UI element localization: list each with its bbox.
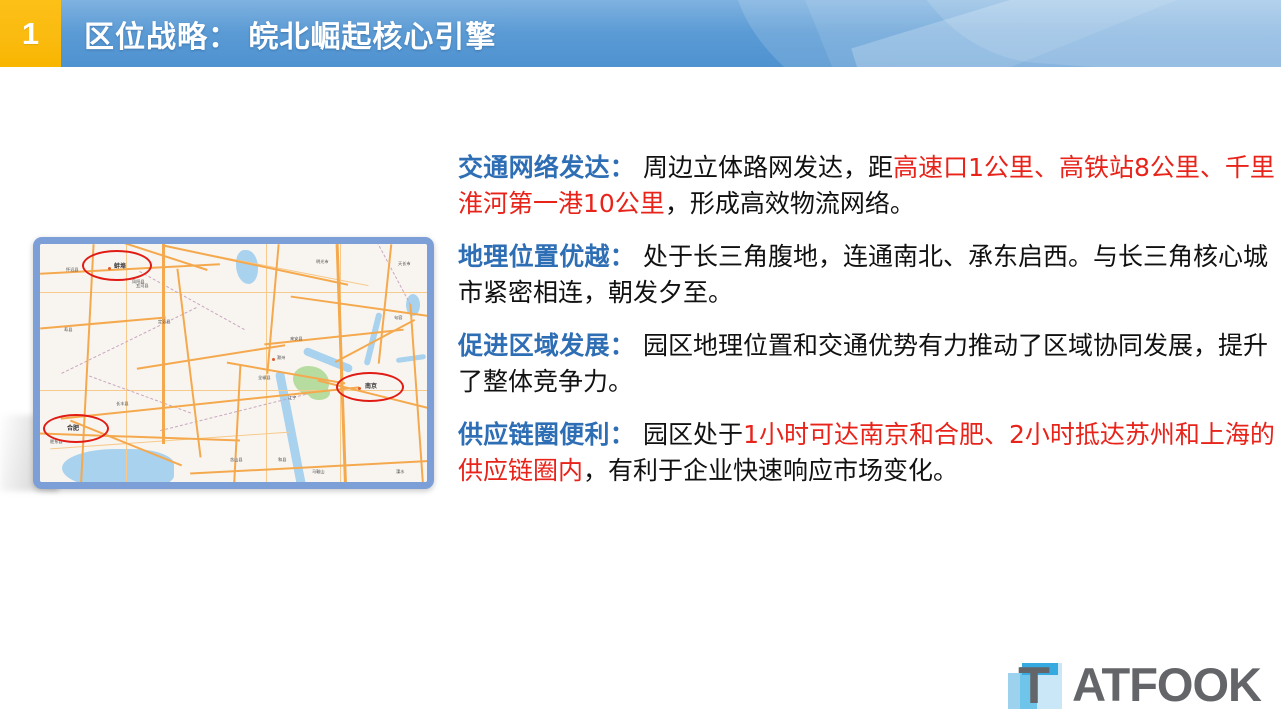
map-town-label: 句容 (394, 316, 402, 320)
slide-header: 1 区位战略： 皖北崛起核心引擎 (0, 0, 1281, 67)
map-town-label: 江宁 (288, 396, 296, 400)
map-town-label: 溧水 (396, 470, 404, 474)
map-town-label: 滁州 (277, 356, 285, 360)
section-number-text: 1 (22, 18, 39, 49)
map-town-label: 马鞍山 (312, 470, 325, 474)
paragraph-text: 园区处于 (635, 420, 743, 449)
header-arc-shape (731, 0, 1281, 67)
map-city-dot (272, 358, 275, 361)
map-highlight-ring-bengbu (82, 250, 152, 281)
map-boundary-dashed (139, 271, 244, 330)
map-town-label: 定远县 (158, 320, 171, 324)
map-town-label: 寿县 (64, 328, 72, 332)
paragraph-lead-traffic: 交通网络发达： (458, 153, 635, 182)
map-town-label: 来安县 (290, 337, 303, 341)
map-water-lake-ne (236, 250, 258, 284)
paragraph-supply-chain: 供应链圈便利： 园区处于1小时可达南京和合肥、2小时抵达苏州和上海的供应链圈内，… (458, 417, 1278, 488)
map-highway (137, 344, 286, 370)
slide-root: 1 区位战略： 皖北崛起核心引擎 (0, 0, 1281, 719)
logo-wordmark: ATFOOK (1072, 661, 1261, 708)
map-highlight-ring-nanjing (336, 372, 404, 402)
paragraph-text: 周边立体路网发达，距 (635, 153, 893, 182)
content-body: 交通网络发达： 周边立体路网发达，距高速口1公里、高铁站8公里、千里淮河第一港1… (458, 150, 1278, 488)
map-highway (233, 364, 242, 482)
paragraph-location: 地理位置优越： 处于长三角腹地，连通南北、承东启西。与长三角核心城市紧密相连，朝… (458, 239, 1278, 310)
map-highlight-ring-hefei (43, 414, 109, 443)
map-highway (40, 317, 166, 330)
company-logo: T ATFOOK (1008, 653, 1261, 715)
map-canvas: 蚌埠 合肥 南京 滁州 来安县 定远县 寿县 怀远县 凤阳县 全椒县 长丰县 肥… (40, 244, 427, 482)
header-wedge-c (801, 0, 1191, 67)
paragraph-text: ，有利于企业快速响应市场变化。 (583, 456, 958, 485)
header-wedge-b (875, 0, 1281, 67)
map-highway (61, 386, 360, 420)
paragraph-lead-supply-chain: 供应链圈便利： (458, 420, 635, 449)
map-town-label: 怀远县 (66, 268, 79, 272)
map-town-label: 天长市 (398, 262, 411, 266)
logo-mark-icon: T (1008, 659, 1070, 709)
paragraph-regional: 促进区域发展： 园区地理位置和交通优势有力推动了区域协同发展，提升了整体竞争力。 (458, 328, 1278, 399)
map-town-label: 含山县 (230, 458, 243, 462)
map-highway (409, 304, 424, 482)
header-wedge-a (851, 0, 1281, 67)
map-town-label: 明光市 (316, 260, 329, 264)
map-water-ne-stream (396, 354, 426, 363)
map-town-label: 和县 (278, 458, 286, 462)
map-town-label: 长丰县 (116, 402, 129, 406)
map-highway (378, 244, 393, 364)
map-town-label: 全椒县 (258, 376, 271, 380)
map-road-minor (40, 292, 427, 293)
map-town-label: 五河县 (136, 284, 149, 288)
map-panel[interactable]: 蚌埠 合肥 南京 滁州 来安县 定远县 寿县 怀远县 凤阳县 全椒县 长丰县 肥… (33, 237, 434, 489)
paragraph-traffic: 交通网络发达： 周边立体路网发达，距高速口1公里、高铁站8公里、千里淮河第一港1… (458, 150, 1278, 221)
logo-mark-letter: T (1018, 669, 1064, 709)
map-highway (190, 459, 427, 474)
paragraph-text: ，形成高效物流网络。 (665, 189, 915, 218)
map-highway (162, 244, 165, 444)
paragraph-lead-regional: 促进区域发展： (458, 331, 635, 360)
page-title: 区位战略： 皖北崛起核心引擎 (84, 0, 496, 67)
paragraph-lead-location: 地理位置优越： (458, 242, 635, 271)
section-number-badge: 1 (0, 0, 61, 67)
